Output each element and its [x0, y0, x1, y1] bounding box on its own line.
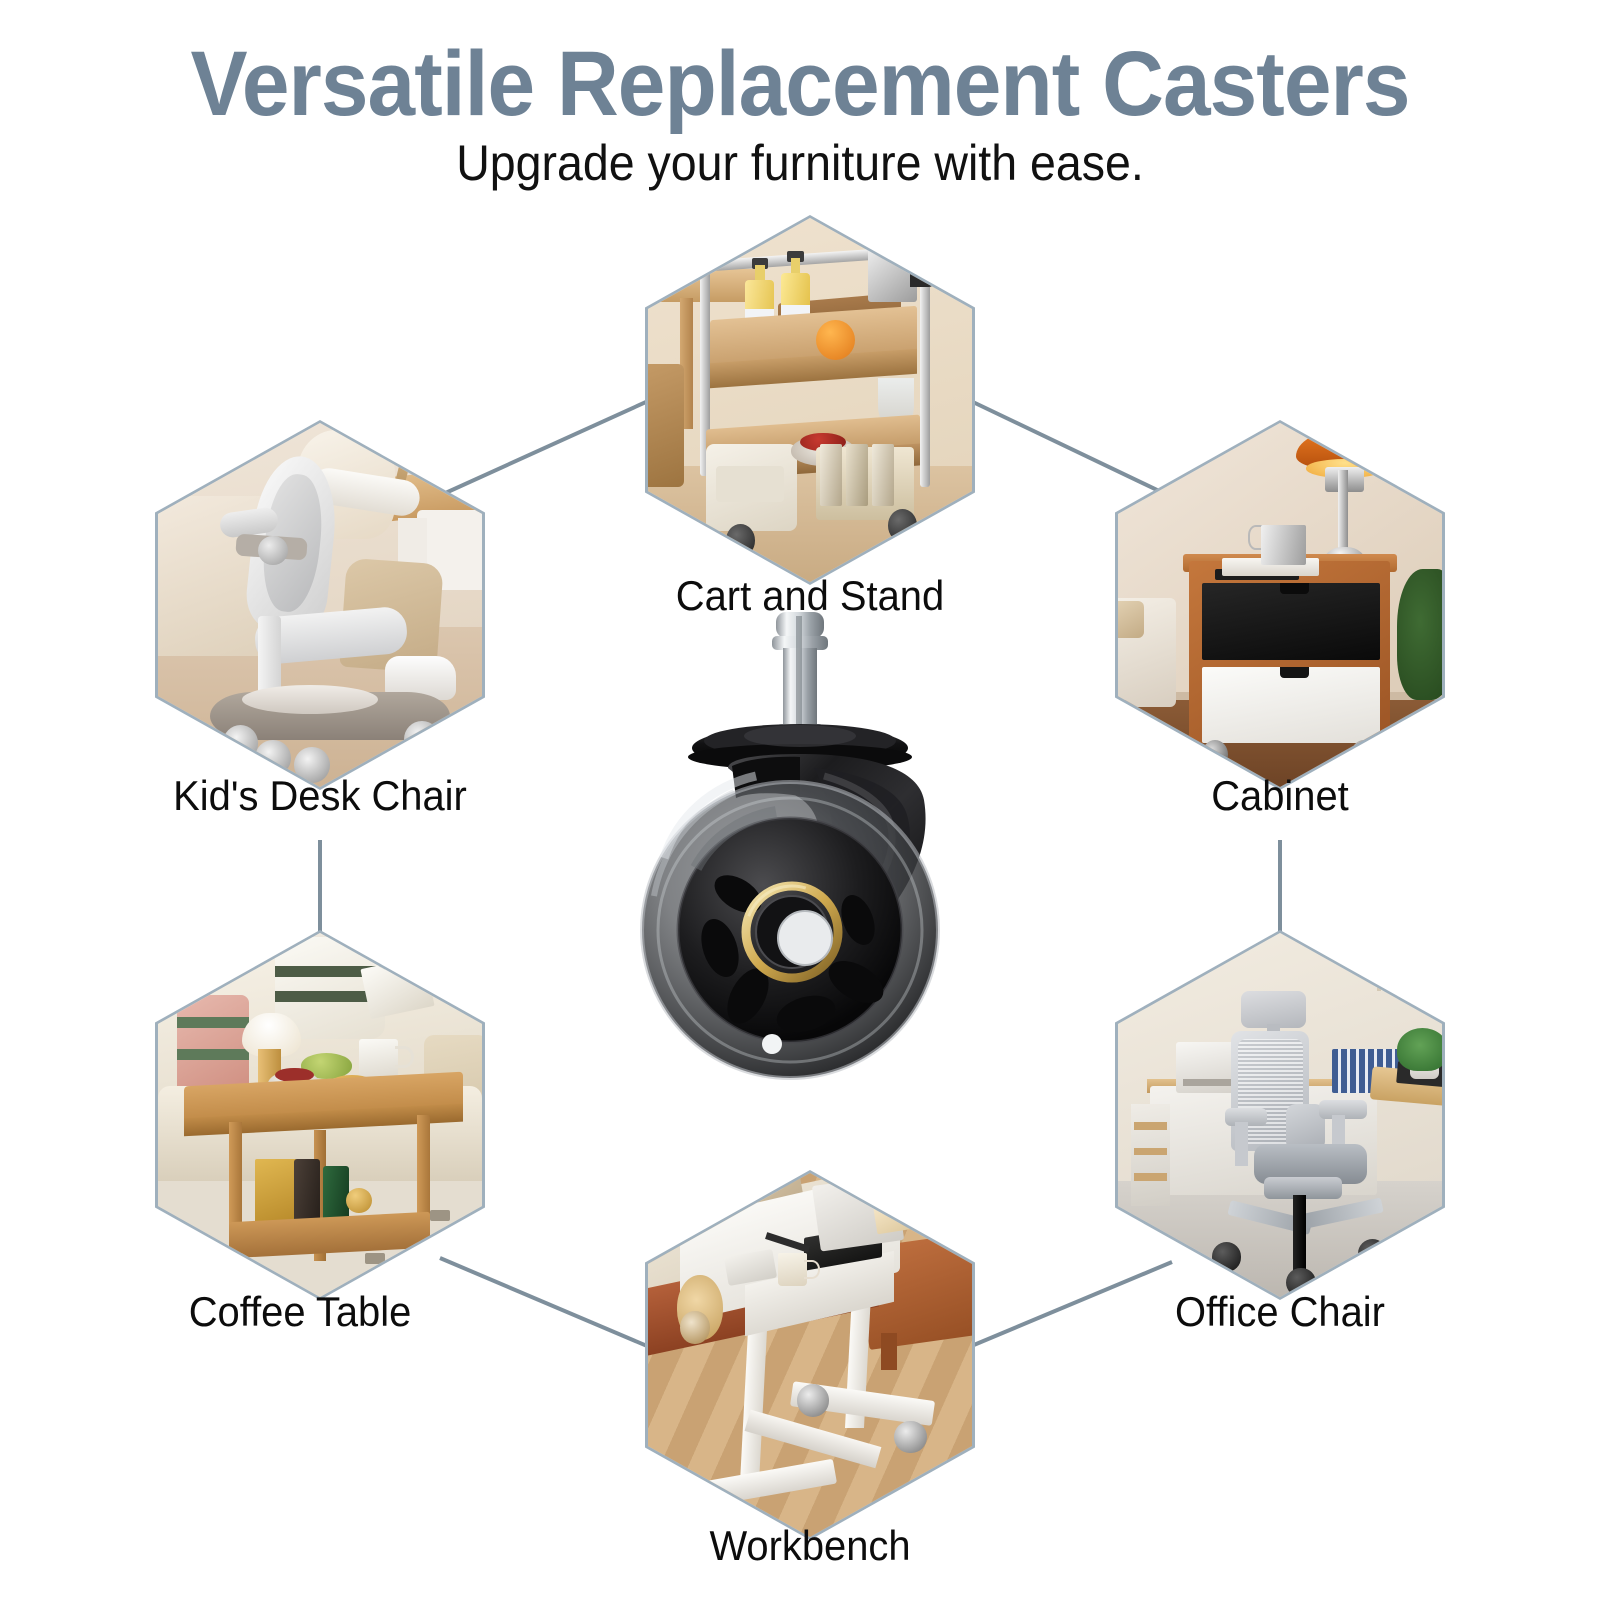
hex-photo-cart-and-stand [648, 218, 972, 582]
hex-photo-office-chair [1118, 933, 1442, 1297]
label-workbench: Workbench [563, 1522, 1057, 1570]
hex-card-office-chair[interactable] [1115, 930, 1445, 1300]
caster-product-image [600, 600, 1000, 1120]
caster-stem [772, 612, 828, 738]
photo-cart-and-stand [648, 218, 972, 582]
hex-card-cabinet[interactable] [1115, 420, 1445, 790]
hex-card-coffee-table[interactable] [155, 930, 485, 1300]
label-cabinet: Cabinet [1033, 772, 1527, 820]
label-kids-desk-chair: Kid's Desk Chair [73, 772, 567, 820]
photo-kids-desk-chair [158, 423, 482, 787]
infographic-canvas: Versatile Replacement Casters Upgrade yo… [0, 0, 1600, 1600]
photo-workbench [648, 1173, 972, 1537]
hex-card-workbench[interactable] [645, 1170, 975, 1540]
hex-photo-kids-desk-chair [158, 423, 482, 787]
wheel-highlight-dot [762, 1034, 782, 1054]
photo-office-chair [1118, 933, 1442, 1297]
label-office-chair: Office Chair [1033, 1288, 1527, 1336]
photo-coffee-table [158, 933, 482, 1297]
photo-cabinet [1118, 423, 1442, 787]
hex-photo-workbench [648, 1173, 972, 1537]
hex-card-cart-and-stand[interactable] [645, 215, 975, 585]
hex-photo-cabinet [1118, 423, 1442, 787]
hex-card-kids-desk-chair[interactable] [155, 420, 485, 790]
label-coffee-table: Coffee Table [53, 1288, 547, 1336]
hex-photo-coffee-table [158, 933, 482, 1297]
